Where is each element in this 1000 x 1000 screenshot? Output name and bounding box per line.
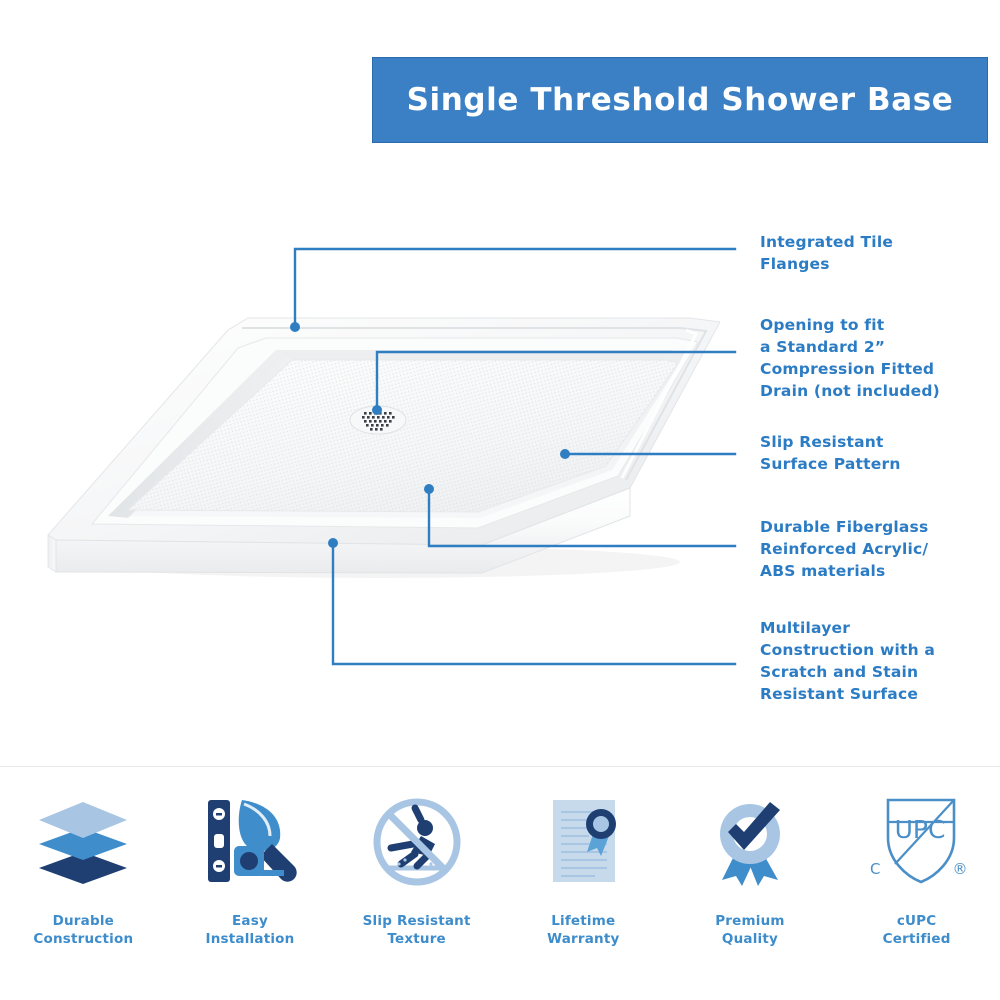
callout-line: ABS materials xyxy=(760,560,975,582)
feature-label-line: Installation xyxy=(206,930,295,948)
feature-label: Premium Quality xyxy=(715,912,784,948)
callout-integrated-tile-flanges: Integrated Tile Flanges xyxy=(760,231,975,275)
feature-label: Slip Resistant Texture xyxy=(363,912,471,948)
callout-durable-fiberglass: Durable Fiberglass Reinforced Acrylic/ A… xyxy=(760,516,975,582)
callout-drain-opening: Opening to fit a Standard 2” Compression… xyxy=(760,314,975,402)
feature-label: cUPC Certified xyxy=(883,912,951,948)
feature-slip-resistant-texture: Slip Resistant Texture xyxy=(342,786,492,948)
feature-easy-installation: Easy Installation xyxy=(175,786,325,948)
feature-label-line: Certified xyxy=(883,930,951,948)
feature-label-line: Premium xyxy=(715,912,784,930)
warranty-document-icon xyxy=(531,786,635,898)
callout-line: Flanges xyxy=(760,253,975,275)
feature-label-line: Slip Resistant xyxy=(363,912,471,930)
feature-label-line: cUPC xyxy=(883,912,951,930)
callout-line: Surface Pattern xyxy=(760,453,975,475)
product-image-shower-base xyxy=(30,290,720,590)
page-title-banner: Single Threshold Shower Base xyxy=(372,57,988,143)
award-ribbon-check-icon xyxy=(698,786,802,898)
page-title: Single Threshold Shower Base xyxy=(407,82,954,118)
cupc-shield-icon: UPC C ® xyxy=(862,786,972,898)
feature-label-line: Construction xyxy=(33,930,133,948)
feature-label-line: Durable xyxy=(33,912,133,930)
callout-line: Durable Fiberglass xyxy=(760,516,975,538)
stacked-layers-icon xyxy=(31,786,135,898)
feature-cupc-certified: UPC C ® cUPC Certified xyxy=(842,786,992,948)
callout-multilayer-construction: Multilayer Construction with a Scratch a… xyxy=(760,617,975,705)
feature-premium-quality: Premium Quality xyxy=(675,786,825,948)
feature-label-line: Lifetime xyxy=(547,912,619,930)
callout-line: Construction with a xyxy=(760,639,975,661)
no-slip-icon xyxy=(365,786,469,898)
callout-line: Scratch and Stain xyxy=(760,661,975,683)
callout-line: a Standard 2” xyxy=(760,336,975,358)
feature-label: Durable Construction xyxy=(33,912,133,948)
drain-grate xyxy=(350,406,406,434)
level-and-trowel-icon xyxy=(198,786,302,898)
callout-line: Opening to fit xyxy=(760,314,975,336)
feature-badges-row: Durable Construction xyxy=(0,786,1000,948)
feature-label-line: Quality xyxy=(715,930,784,948)
feature-lifetime-warranty: Lifetime Warranty xyxy=(508,786,658,948)
callout-line: Multilayer xyxy=(760,617,975,639)
product-left-face xyxy=(48,535,56,572)
section-divider xyxy=(0,766,1000,767)
callout-line: Compression Fitted xyxy=(760,358,975,380)
cupc-prefix-c: C xyxy=(870,860,880,878)
callout-line: Slip Resistant xyxy=(760,431,975,453)
cupc-shield-text: UPC xyxy=(894,815,945,844)
callout-line: Drain (not included) xyxy=(760,380,975,402)
callout-line: Reinforced Acrylic/ xyxy=(760,538,975,560)
callout-line: Integrated Tile xyxy=(760,231,975,253)
feature-label-line: Warranty xyxy=(547,930,619,948)
feature-durable-construction: Durable Construction xyxy=(8,786,158,948)
feature-label: Easy Installation xyxy=(206,912,295,948)
cupc-registered-mark: ® xyxy=(952,860,967,878)
feature-label-line: Texture xyxy=(363,930,471,948)
callout-line: Resistant Surface xyxy=(760,683,975,705)
feature-label-line: Easy xyxy=(206,912,295,930)
feature-label: Lifetime Warranty xyxy=(547,912,619,948)
callout-slip-resistant-surface: Slip Resistant Surface Pattern xyxy=(760,431,975,475)
